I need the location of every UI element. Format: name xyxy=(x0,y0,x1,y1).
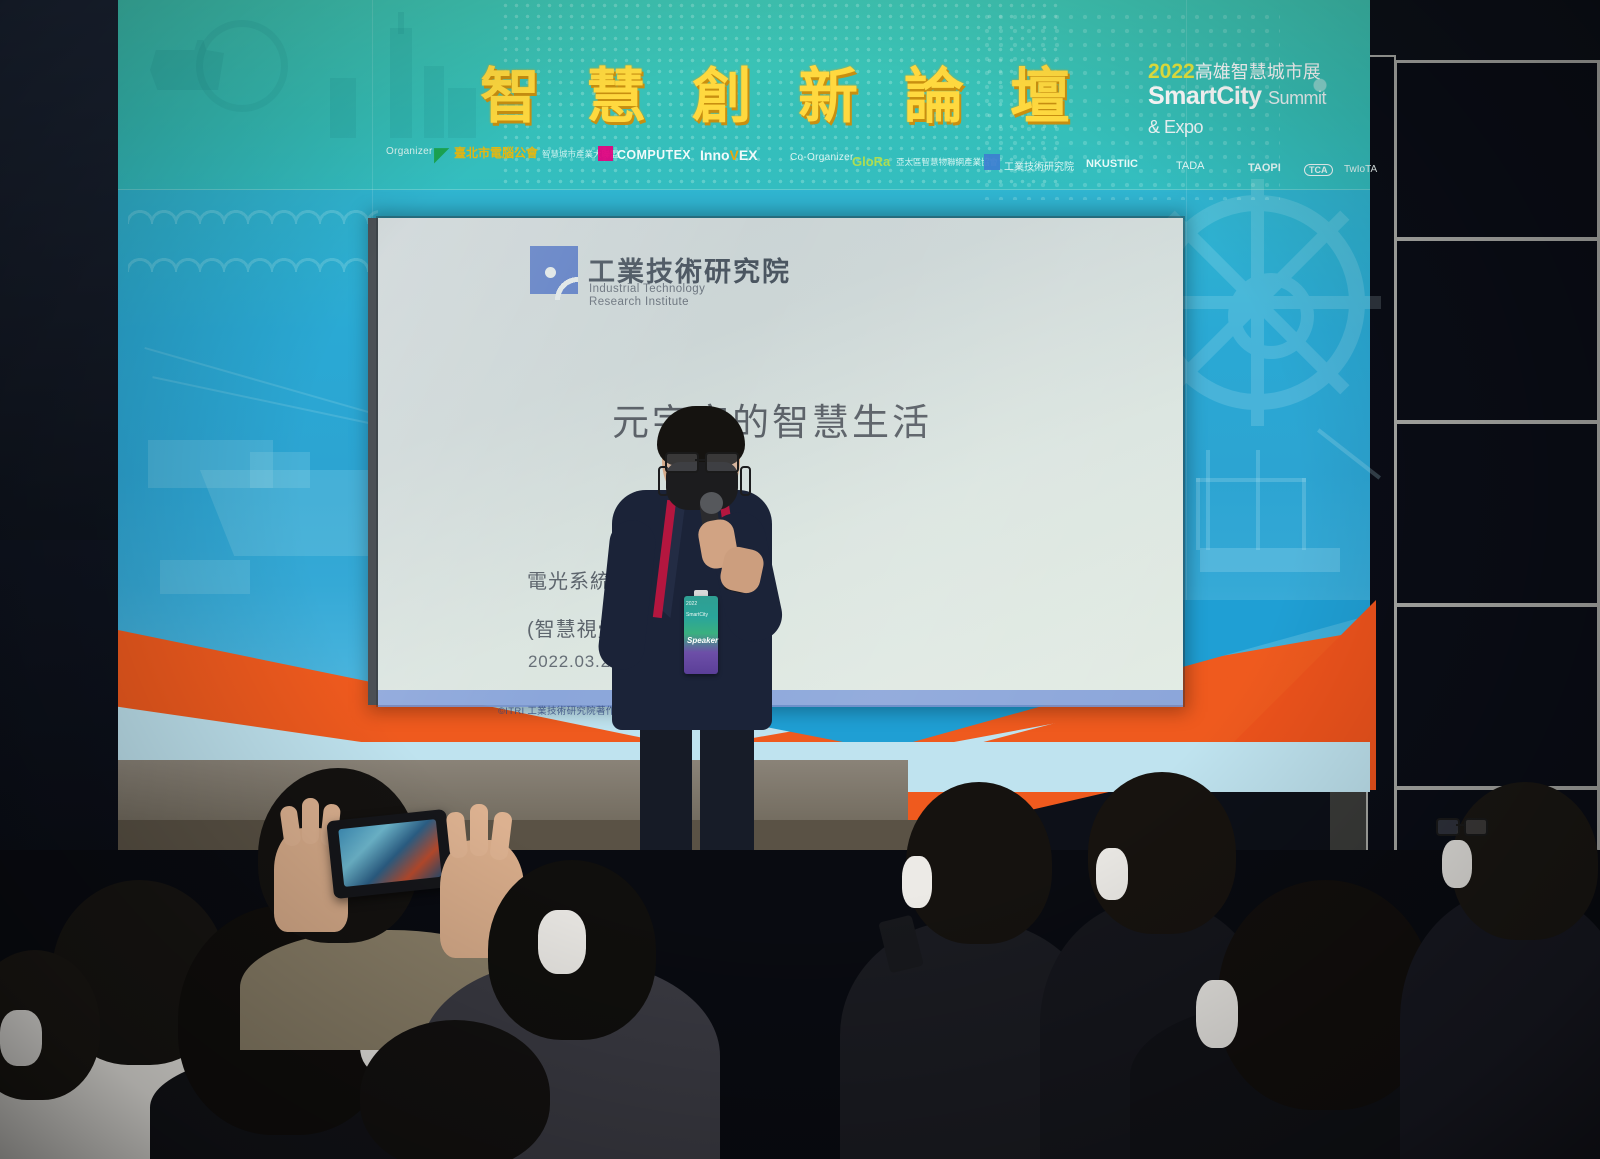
conference-scene: 智 慧 創 新 論 壇 2022高雄智慧城市展 SmartCity Summit… xyxy=(0,0,1600,1159)
event-logo-smartcity: SmartCity xyxy=(1148,82,1262,110)
audience-face-mask xyxy=(1096,848,1128,900)
speaker-badge xyxy=(684,596,718,674)
wall-panel xyxy=(1394,238,1600,423)
sponsor-logo-twiota: TwIoTA xyxy=(1344,164,1377,175)
badge-line1: 2022 xyxy=(686,601,697,607)
port-crane-silhouette xyxy=(1302,478,1306,550)
projection-screen xyxy=(378,218,1183,705)
microphone-head xyxy=(700,492,723,514)
sponsor-logo-row: Organizer ◤ 臺北市電腦公會 智慧城市產業大聯盟 COMPUTEX I… xyxy=(386,136,1176,178)
sponsor-logo-innovex: InnoVEX xyxy=(700,147,758,163)
sponsor-logo-computex: COMPUTEX xyxy=(617,148,691,162)
sponsor-logo-tada: TADA xyxy=(1176,160,1205,172)
port-crane-silhouette xyxy=(1200,548,1340,572)
port-crane-silhouette xyxy=(1256,450,1260,550)
event-logo-year: 2022 xyxy=(1148,60,1195,83)
headline-char: 壇 xyxy=(1010,48,1070,135)
audience-face-mask xyxy=(538,910,586,974)
computex-mark-icon xyxy=(598,146,613,161)
kaohsiung-landmark-icon xyxy=(1298,60,1342,96)
audience-face-mask xyxy=(0,1010,42,1066)
badge-role-label: Speaker xyxy=(687,636,718,645)
smartphone-screen-preview xyxy=(338,819,442,887)
left-wall xyxy=(0,0,132,560)
audience-face-mask xyxy=(1196,980,1238,1048)
wall-panel xyxy=(1394,604,1600,789)
sponsor-logo-taopi: TAOPI xyxy=(1248,162,1281,174)
itri-logo-en-line2: Research Institute xyxy=(589,296,689,308)
itri-logo-icon xyxy=(530,246,578,294)
sponsor-logo-nkustiic: NKUSTIIC xyxy=(1086,158,1138,170)
container-stack-silhouette xyxy=(160,560,250,594)
audience-face-mask xyxy=(1442,840,1472,888)
mask-ear-loop xyxy=(740,466,751,496)
skyline-silhouette xyxy=(330,78,356,138)
audience-glasses xyxy=(1436,818,1484,832)
speaker-glasses xyxy=(665,452,737,469)
badge-line2: SmartCity xyxy=(686,612,708,618)
headline-char: 創 xyxy=(692,48,752,135)
audience-head xyxy=(1452,782,1598,940)
tower-silhouette xyxy=(398,12,404,34)
wall-panel xyxy=(1366,55,1396,955)
headline-char: 智 xyxy=(480,48,540,135)
sponsor-logo-aiot-assoc: 亞太區智慧物聯網產業協會 xyxy=(896,156,998,168)
banner-headline: 智 慧 創 新 論 壇 xyxy=(480,48,1070,135)
sponsor-logo-itri: 工業技術研究院 xyxy=(1004,158,1074,173)
finger xyxy=(470,804,488,856)
event-logo: 2022高雄智慧城市展 SmartCity Summit & Expo xyxy=(1148,58,1338,140)
itri-logo-en-line1: Industrial Technology xyxy=(589,283,705,295)
container-stack-silhouette xyxy=(250,452,310,488)
sponsor-logo-taipei-computer-assoc: 臺北市電腦公會 xyxy=(454,144,538,161)
wall-panel xyxy=(1394,60,1600,240)
port-crane-silhouette xyxy=(1206,450,1210,550)
headline-char: 慧 xyxy=(586,48,646,135)
audience-head xyxy=(360,1020,550,1159)
port-crane-silhouette xyxy=(1196,478,1200,550)
skyline-silhouette xyxy=(448,88,476,138)
tower-silhouette xyxy=(390,28,412,138)
wave-decor xyxy=(128,258,378,272)
organizer-label: Organizer xyxy=(386,146,433,157)
sponsor-logo-tca: TCA xyxy=(1304,164,1333,176)
headline-char: 論 xyxy=(904,48,964,135)
wave-decor xyxy=(128,210,378,224)
audience-face-mask xyxy=(902,856,932,908)
backdrop-seam xyxy=(118,189,1370,190)
sponsor-logo-tca-arrow: ◤ xyxy=(434,142,449,167)
skyline-silhouette xyxy=(424,66,444,138)
port-crane-silhouette xyxy=(1196,478,1306,482)
sponsor-logo-glora: GloRa xyxy=(852,154,890,169)
headline-char: 新 xyxy=(798,48,858,135)
co-organizer-label: Co-Organizer xyxy=(790,152,854,163)
wall-panel xyxy=(1394,421,1600,606)
itri-mark-icon xyxy=(984,154,1000,170)
finger xyxy=(302,798,319,844)
